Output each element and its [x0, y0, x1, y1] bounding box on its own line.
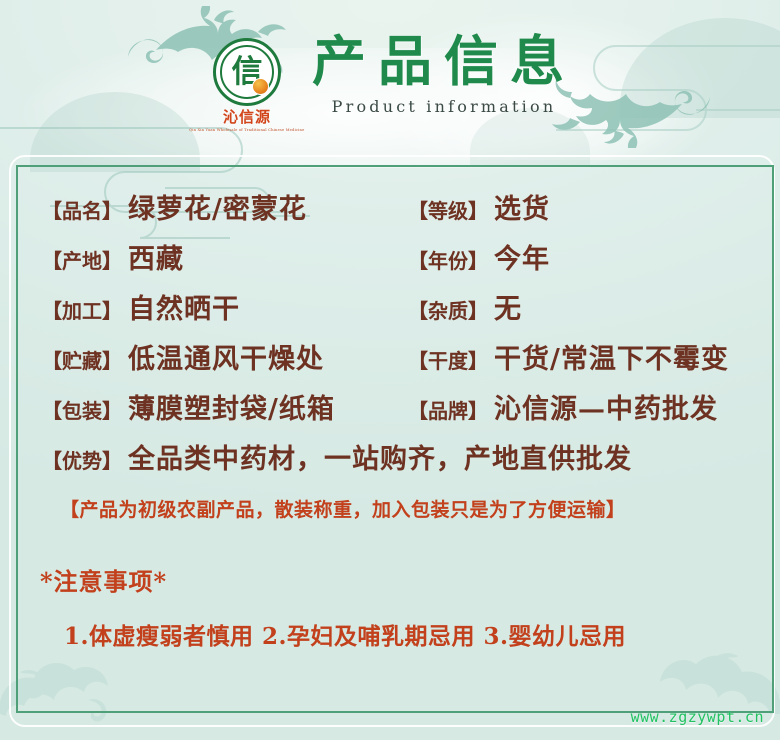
spec-cell-right: 【品牌】 沁信源—中药批发: [408, 387, 718, 426]
title-block: 产品信息 Product information: [300, 34, 576, 116]
disclaimer-note: 【产品为初级农副产品，散装称重，加入包装只是为了方便运输】: [16, 495, 774, 522]
page-title: 产品信息: [300, 34, 576, 88]
spec-cell-left: 【品名】 绿萝花/密蒙花: [42, 187, 408, 226]
spec-value: 自然晒干: [128, 287, 240, 326]
attention-heading: *注意事项*: [16, 562, 774, 597]
spec-label: 【等级】: [408, 195, 488, 224]
table-row: 【包装】 薄膜塑封袋/纸箱 【品牌】 沁信源—中药批发: [42, 387, 774, 437]
spec-cell-left: 【贮藏】 低温通风干燥处: [42, 337, 408, 376]
spec-label: 【杂质】: [408, 295, 488, 324]
spec-label: 【年份】: [408, 245, 488, 274]
spec-cell-right: 【年份】 今年: [408, 237, 550, 276]
spec-panel: 【品名】 绿萝花/密蒙花 【等级】 选货 【产地】 西藏 【年份】 今年: [16, 165, 774, 713]
page-subtitle: Product information: [320, 97, 557, 116]
brand-row: 信 沁信源 Qin Xin Yuan Wholesale of Traditio…: [0, 34, 780, 132]
seal-dot-icon: [252, 78, 269, 95]
advantage-cell: 【优势】 全品类中药材，一站购齐，产地直供批发: [42, 437, 632, 476]
spec-cell-right: 【干度】 干货/常温下不霉变: [408, 337, 729, 376]
spec-value: 无: [494, 287, 522, 326]
advantage-label: 【优势】: [42, 445, 122, 474]
spec-rows: 【品名】 绿萝花/密蒙花 【等级】 选货 【产地】 西藏 【年份】 今年: [16, 187, 774, 487]
advantage-value: 全品类中药材，一站购齐，产地直供批发: [128, 437, 632, 476]
page-header: 信 沁信源 Qin Xin Yuan Wholesale of Traditio…: [0, 0, 780, 155]
brand-name: 沁信源: [223, 109, 271, 126]
table-row: 【加工】 自然晒干 【杂质】 无: [42, 287, 774, 337]
spec-cell-right: 【等级】 选货: [408, 187, 550, 226]
spec-value: 绿萝花/密蒙花: [128, 187, 307, 226]
spec-value: 干货/常温下不霉变: [494, 337, 729, 376]
logo: 信 沁信源 Qin Xin Yuan Wholesale of Traditio…: [204, 38, 290, 132]
advantage-row: 【优势】 全品类中药材，一站购齐，产地直供批发: [42, 437, 774, 487]
table-row: 【贮藏】 低温通风干燥处 【干度】 干货/常温下不霉变: [42, 337, 774, 387]
spec-label: 【加工】: [42, 295, 122, 324]
spec-value: 薄膜塑封袋/纸箱: [128, 387, 335, 426]
spec-value: 沁信源—中药批发: [494, 387, 718, 426]
spec-value: 选货: [494, 187, 550, 226]
spec-value: 今年: [494, 237, 550, 276]
table-row: 【产地】 西藏 【年份】 今年: [42, 237, 774, 287]
product-info-page: 信 沁信源 Qin Xin Yuan Wholesale of Traditio…: [0, 0, 780, 740]
watermark: www.zgzywpt.cn: [631, 708, 764, 726]
spec-value: 低温通风干燥处: [128, 337, 324, 376]
spec-label: 【包装】: [42, 395, 122, 424]
seal-icon: 信: [213, 38, 281, 106]
spec-label: 【品名】: [42, 195, 122, 224]
brand-subtitle: Qin Xin Yuan Wholesale of Traditional Ch…: [189, 127, 304, 132]
spec-value: 西藏: [128, 237, 184, 276]
spec-cell-right: 【杂质】 无: [408, 287, 522, 326]
spec-label: 【干度】: [408, 345, 488, 374]
spec-label: 【品牌】: [408, 395, 488, 424]
spec-label: 【产地】: [42, 245, 122, 274]
spec-cell-left: 【加工】 自然晒干: [42, 287, 408, 326]
attention-items: 1.体虚瘦弱者慎用 2.孕妇及哺乳期忌用 3.婴幼儿忌用: [16, 617, 774, 651]
spec-cell-left: 【包装】 薄膜塑封袋/纸箱: [42, 387, 408, 426]
table-row: 【品名】 绿萝花/密蒙花 【等级】 选货: [42, 187, 774, 237]
spec-cell-left: 【产地】 西藏: [42, 237, 408, 276]
spec-label: 【贮藏】: [42, 345, 122, 374]
